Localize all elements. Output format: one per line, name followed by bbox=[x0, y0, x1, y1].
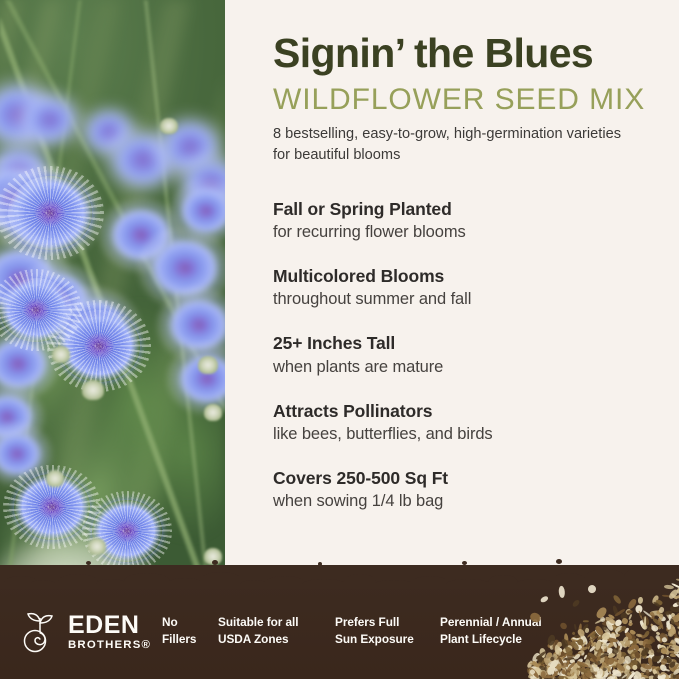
seed bbox=[556, 641, 563, 648]
seed bbox=[664, 668, 670, 672]
seed bbox=[638, 610, 643, 619]
cornflower-bud bbox=[82, 380, 104, 400]
seed bbox=[573, 634, 577, 638]
seed bbox=[605, 631, 612, 638]
seed bbox=[584, 670, 593, 679]
seed bbox=[673, 646, 679, 651]
seed bbox=[629, 672, 634, 678]
seed bbox=[539, 648, 546, 658]
seed bbox=[571, 631, 576, 636]
seed bbox=[670, 640, 678, 647]
seed bbox=[574, 641, 586, 651]
seed bbox=[621, 659, 630, 670]
seed bbox=[576, 667, 579, 678]
seed bbox=[658, 674, 663, 679]
seed bbox=[584, 668, 593, 675]
seed bbox=[547, 665, 557, 674]
seed bbox=[557, 649, 565, 657]
badge-sun-exposure: Prefers Full Sun Exposure bbox=[335, 614, 414, 648]
seed bbox=[576, 669, 579, 675]
soil-crumb bbox=[86, 561, 91, 565]
seed bbox=[617, 640, 624, 650]
seed bbox=[613, 667, 616, 673]
seed bbox=[652, 656, 660, 662]
seed bbox=[623, 639, 631, 647]
badge-line2: Fillers bbox=[162, 631, 196, 648]
seed bbox=[568, 663, 574, 669]
seed bbox=[530, 668, 540, 679]
seed bbox=[567, 672, 575, 679]
seed bbox=[622, 664, 632, 676]
seed bbox=[636, 634, 642, 638]
seed bbox=[601, 661, 609, 669]
seed bbox=[589, 661, 598, 674]
seed bbox=[598, 670, 602, 674]
seed bbox=[551, 670, 560, 679]
seed bbox=[566, 658, 570, 668]
seed bbox=[605, 656, 614, 665]
seed bbox=[668, 626, 675, 637]
seed bbox=[552, 665, 562, 675]
brand-logo[interactable]: EDEN BROTHERS® bbox=[20, 610, 151, 654]
seed bbox=[669, 664, 673, 668]
seed bbox=[614, 625, 623, 634]
seed bbox=[656, 643, 666, 654]
seed bbox=[529, 665, 535, 670]
seed bbox=[587, 630, 596, 638]
seed bbox=[548, 666, 554, 678]
seed bbox=[629, 629, 636, 635]
seed bbox=[530, 671, 538, 679]
seed bbox=[602, 631, 611, 642]
seed bbox=[672, 672, 679, 679]
feature-list: Fall or Spring Planted for recurring flo… bbox=[273, 198, 663, 512]
seed bbox=[663, 643, 673, 646]
product-infographic-card: Signin’ the Blues WILDFLOWER SEED MIX 8 … bbox=[0, 0, 679, 679]
seed bbox=[655, 634, 663, 642]
seed bbox=[609, 632, 617, 641]
seed bbox=[538, 660, 542, 667]
seed bbox=[561, 672, 566, 679]
seed bbox=[561, 660, 568, 668]
seed bbox=[675, 668, 679, 674]
seed bbox=[534, 664, 544, 675]
seed bbox=[599, 638, 606, 645]
seed bbox=[530, 674, 540, 679]
page-title: Signin’ the Blues bbox=[273, 33, 593, 74]
seed bbox=[621, 663, 626, 668]
seed bbox=[644, 648, 652, 655]
seed bbox=[653, 601, 662, 608]
seed bbox=[613, 644, 623, 652]
seed bbox=[533, 667, 541, 678]
seed bbox=[636, 638, 640, 643]
soil-bump bbox=[240, 580, 268, 589]
seed bbox=[546, 663, 555, 670]
scattered-seed bbox=[604, 620, 614, 632]
seed bbox=[620, 646, 622, 650]
seed bbox=[663, 675, 669, 679]
seed bbox=[583, 669, 595, 679]
seed bbox=[644, 616, 647, 628]
seed bbox=[626, 637, 632, 644]
seed bbox=[627, 642, 632, 647]
seed bbox=[564, 675, 571, 679]
seed bbox=[617, 649, 622, 659]
feature-sub: throughout summer and fall bbox=[273, 288, 663, 310]
soil-bump bbox=[58, 574, 98, 589]
seed bbox=[624, 655, 632, 665]
seed bbox=[669, 673, 678, 679]
seed bbox=[650, 610, 662, 616]
seed bbox=[659, 660, 668, 670]
soil-crumb bbox=[318, 562, 322, 566]
seed bbox=[548, 658, 554, 664]
seed bbox=[668, 664, 679, 671]
cornflower-bloom bbox=[22, 96, 78, 144]
seed bbox=[640, 613, 645, 616]
seed bbox=[667, 588, 679, 600]
seed bbox=[582, 640, 587, 646]
seed bbox=[650, 665, 661, 677]
seed bbox=[667, 629, 676, 638]
soil-bump bbox=[302, 579, 346, 589]
seed bbox=[655, 598, 663, 605]
seed bbox=[599, 635, 609, 648]
seed bbox=[564, 657, 575, 661]
seed bbox=[649, 663, 655, 675]
cornflower-bud bbox=[46, 470, 64, 487]
seed bbox=[608, 641, 616, 649]
seed bbox=[650, 624, 659, 632]
seed bbox=[596, 646, 606, 657]
seed bbox=[650, 666, 658, 670]
seed bbox=[671, 612, 676, 617]
seed bbox=[629, 641, 632, 645]
soil-bump bbox=[96, 579, 126, 589]
seed bbox=[660, 657, 668, 665]
seed bbox=[652, 617, 663, 626]
seed bbox=[620, 611, 628, 619]
seed bbox=[626, 657, 629, 661]
seed bbox=[551, 657, 558, 664]
seed bbox=[537, 668, 548, 678]
seed bbox=[674, 637, 679, 647]
seed bbox=[590, 639, 596, 649]
seed bbox=[542, 656, 550, 666]
seed bbox=[578, 661, 589, 669]
soil-bump bbox=[344, 574, 376, 589]
seed bbox=[626, 609, 632, 613]
seed bbox=[645, 643, 648, 654]
seed bbox=[581, 670, 588, 676]
seed bbox=[611, 632, 617, 644]
seed bbox=[601, 653, 611, 666]
seed bbox=[545, 668, 553, 675]
cornflower-bloom-hero bbox=[8, 176, 92, 250]
seed bbox=[626, 647, 634, 655]
seed bbox=[592, 670, 599, 677]
seed bbox=[655, 673, 666, 679]
seed bbox=[606, 664, 618, 669]
seed bbox=[611, 646, 620, 655]
seed bbox=[608, 614, 615, 620]
seed bbox=[530, 662, 542, 667]
seed bbox=[553, 667, 558, 673]
seed bbox=[529, 668, 533, 671]
scattered-seed bbox=[564, 646, 574, 657]
seed bbox=[555, 646, 561, 654]
seed bbox=[593, 648, 601, 654]
seed bbox=[557, 647, 563, 652]
seed bbox=[625, 632, 636, 639]
seed bbox=[541, 671, 546, 678]
seed bbox=[564, 633, 569, 644]
seed bbox=[668, 659, 677, 665]
seed bbox=[552, 654, 558, 662]
seed bbox=[603, 643, 607, 649]
seed bbox=[637, 650, 645, 659]
seed bbox=[624, 627, 629, 633]
seed bbox=[588, 644, 597, 653]
content-panel: Signin’ the Blues WILDFLOWER SEED MIX 8 … bbox=[225, 0, 679, 612]
seed bbox=[564, 669, 572, 678]
cornflower-bud bbox=[204, 404, 222, 421]
seed bbox=[669, 624, 678, 635]
seed bbox=[543, 665, 551, 673]
feature-title: Attracts Pollinators bbox=[273, 400, 663, 423]
feature-sub: like bees, butterflies, and birds bbox=[273, 423, 663, 445]
seed bbox=[603, 667, 608, 672]
seed bbox=[640, 650, 647, 659]
seed bbox=[667, 673, 676, 679]
seed bbox=[659, 670, 670, 679]
seed bbox=[532, 663, 539, 666]
seed bbox=[673, 636, 679, 641]
seed bbox=[574, 653, 581, 660]
soil-bump bbox=[412, 576, 448, 589]
seed bbox=[638, 597, 643, 604]
seed bbox=[671, 646, 678, 654]
seed bbox=[604, 671, 610, 677]
seed bbox=[635, 669, 642, 678]
seed bbox=[669, 618, 675, 626]
seed bbox=[667, 639, 673, 649]
seed bbox=[553, 670, 561, 676]
seed bbox=[623, 672, 627, 676]
feature-item: 25+ Inches Tall when plants are mature bbox=[273, 332, 663, 377]
seed bbox=[640, 674, 648, 678]
seed bbox=[607, 652, 616, 659]
seed bbox=[612, 668, 623, 677]
seed bbox=[561, 654, 572, 664]
seed bbox=[589, 675, 597, 679]
seed bbox=[640, 619, 647, 629]
badge-line1: Perennial / Annual bbox=[440, 614, 542, 631]
soil-bump bbox=[200, 572, 242, 589]
seed bbox=[586, 651, 597, 660]
seed bbox=[539, 662, 544, 667]
seed bbox=[611, 674, 619, 679]
seed bbox=[541, 674, 552, 678]
soil-bump bbox=[552, 573, 586, 589]
seed bbox=[607, 673, 613, 679]
seed bbox=[605, 664, 612, 672]
seed bbox=[662, 647, 670, 656]
seed bbox=[596, 668, 603, 678]
seed bbox=[529, 675, 537, 679]
seed bbox=[617, 672, 629, 679]
seed bbox=[644, 643, 652, 651]
seed bbox=[603, 667, 609, 679]
seed bbox=[614, 619, 623, 628]
seed bbox=[657, 617, 664, 629]
seed bbox=[636, 657, 642, 666]
cornflower-bud bbox=[88, 538, 106, 555]
product-photo bbox=[0, 0, 225, 612]
seed bbox=[673, 621, 679, 629]
seed bbox=[648, 638, 654, 644]
badge-line2: Sun Exposure bbox=[335, 631, 414, 648]
seed bbox=[533, 670, 538, 676]
seed bbox=[587, 653, 595, 660]
seed bbox=[597, 630, 602, 635]
feature-sub: when sowing 1/4 lb bag bbox=[273, 490, 663, 512]
seed bbox=[665, 626, 675, 633]
seed bbox=[527, 667, 533, 674]
seed bbox=[666, 623, 672, 630]
seed bbox=[549, 656, 555, 662]
seed bbox=[604, 653, 611, 656]
seed bbox=[594, 645, 598, 654]
badge-line1: No bbox=[162, 614, 196, 631]
seed bbox=[672, 645, 678, 650]
seed bbox=[595, 633, 607, 642]
seed bbox=[611, 633, 617, 641]
seed bbox=[670, 605, 679, 613]
seed bbox=[647, 653, 655, 661]
seed bbox=[551, 655, 563, 668]
seed bbox=[640, 662, 652, 670]
seed bbox=[658, 637, 665, 643]
seed bbox=[548, 659, 559, 671]
seed bbox=[658, 613, 664, 619]
seed bbox=[605, 643, 614, 646]
seed bbox=[642, 639, 650, 648]
seed bbox=[651, 594, 659, 604]
seed bbox=[640, 644, 645, 650]
soil-crumb bbox=[212, 560, 218, 565]
seed bbox=[566, 665, 572, 677]
seed bbox=[664, 676, 672, 679]
seed bbox=[596, 650, 602, 662]
seed bbox=[606, 675, 614, 679]
seed bbox=[595, 632, 601, 638]
brand-wordmark: EDEN BROTHERS® bbox=[68, 613, 151, 651]
seed bbox=[670, 653, 676, 656]
seed bbox=[643, 630, 650, 638]
seed bbox=[665, 646, 668, 654]
seed bbox=[577, 661, 587, 668]
seed bbox=[661, 636, 668, 643]
seed bbox=[554, 663, 563, 670]
seed bbox=[584, 672, 588, 679]
seed bbox=[655, 653, 665, 664]
seed bbox=[536, 655, 542, 659]
seed bbox=[567, 664, 577, 676]
seed bbox=[535, 674, 542, 679]
seed bbox=[607, 656, 616, 666]
seed bbox=[639, 652, 644, 656]
seed bbox=[582, 620, 588, 622]
seed bbox=[573, 668, 578, 674]
seed bbox=[675, 674, 679, 679]
scattered-seed bbox=[576, 628, 586, 638]
seed bbox=[576, 639, 584, 647]
seed bbox=[623, 640, 633, 645]
seed bbox=[662, 660, 667, 665]
soil-bump bbox=[446, 579, 490, 589]
seed bbox=[635, 654, 641, 661]
seed bbox=[668, 627, 675, 635]
seed bbox=[659, 615, 667, 622]
cornflower-bloom bbox=[178, 186, 225, 236]
seed bbox=[605, 673, 617, 679]
seed bbox=[633, 674, 641, 679]
seed bbox=[675, 638, 679, 644]
seed bbox=[652, 668, 658, 675]
feature-item: Attracts Pollinators like bees, butterfl… bbox=[273, 400, 663, 445]
seed bbox=[634, 670, 644, 679]
seed bbox=[575, 662, 582, 672]
seed bbox=[556, 675, 569, 679]
seed bbox=[643, 662, 654, 673]
seed bbox=[557, 647, 563, 654]
seed bbox=[534, 664, 546, 675]
soil-footer-bar: EDEN BROTHERS® No Fillers Suitable for a… bbox=[0, 579, 679, 679]
seed bbox=[629, 663, 635, 669]
seed bbox=[638, 647, 645, 654]
scattered-seed bbox=[547, 634, 556, 646]
feature-title: Fall or Spring Planted bbox=[273, 198, 663, 221]
seed bbox=[630, 644, 635, 649]
seed bbox=[606, 656, 611, 661]
feature-item: Covers 250-500 Sq Ft when sowing 1/4 lb … bbox=[273, 467, 663, 512]
seed bbox=[647, 639, 654, 646]
seed bbox=[534, 669, 540, 671]
seed bbox=[673, 662, 679, 670]
seed bbox=[562, 659, 566, 664]
seed bbox=[561, 662, 569, 669]
seed bbox=[640, 646, 651, 658]
seed bbox=[538, 665, 546, 672]
seed bbox=[577, 658, 585, 665]
feature-title: 25+ Inches Tall bbox=[273, 332, 663, 355]
seed bbox=[597, 655, 606, 664]
scattered-seed bbox=[539, 595, 549, 603]
seed bbox=[598, 645, 603, 649]
seed bbox=[624, 654, 632, 661]
seed bbox=[642, 655, 652, 659]
seed bbox=[616, 656, 626, 667]
seed bbox=[557, 649, 562, 656]
seed bbox=[534, 669, 541, 672]
soil-crumb bbox=[556, 559, 562, 564]
seed bbox=[593, 673, 601, 679]
seed bbox=[621, 673, 628, 679]
seed bbox=[632, 647, 637, 654]
badge-line2: Plant Lifecycle bbox=[440, 631, 542, 648]
